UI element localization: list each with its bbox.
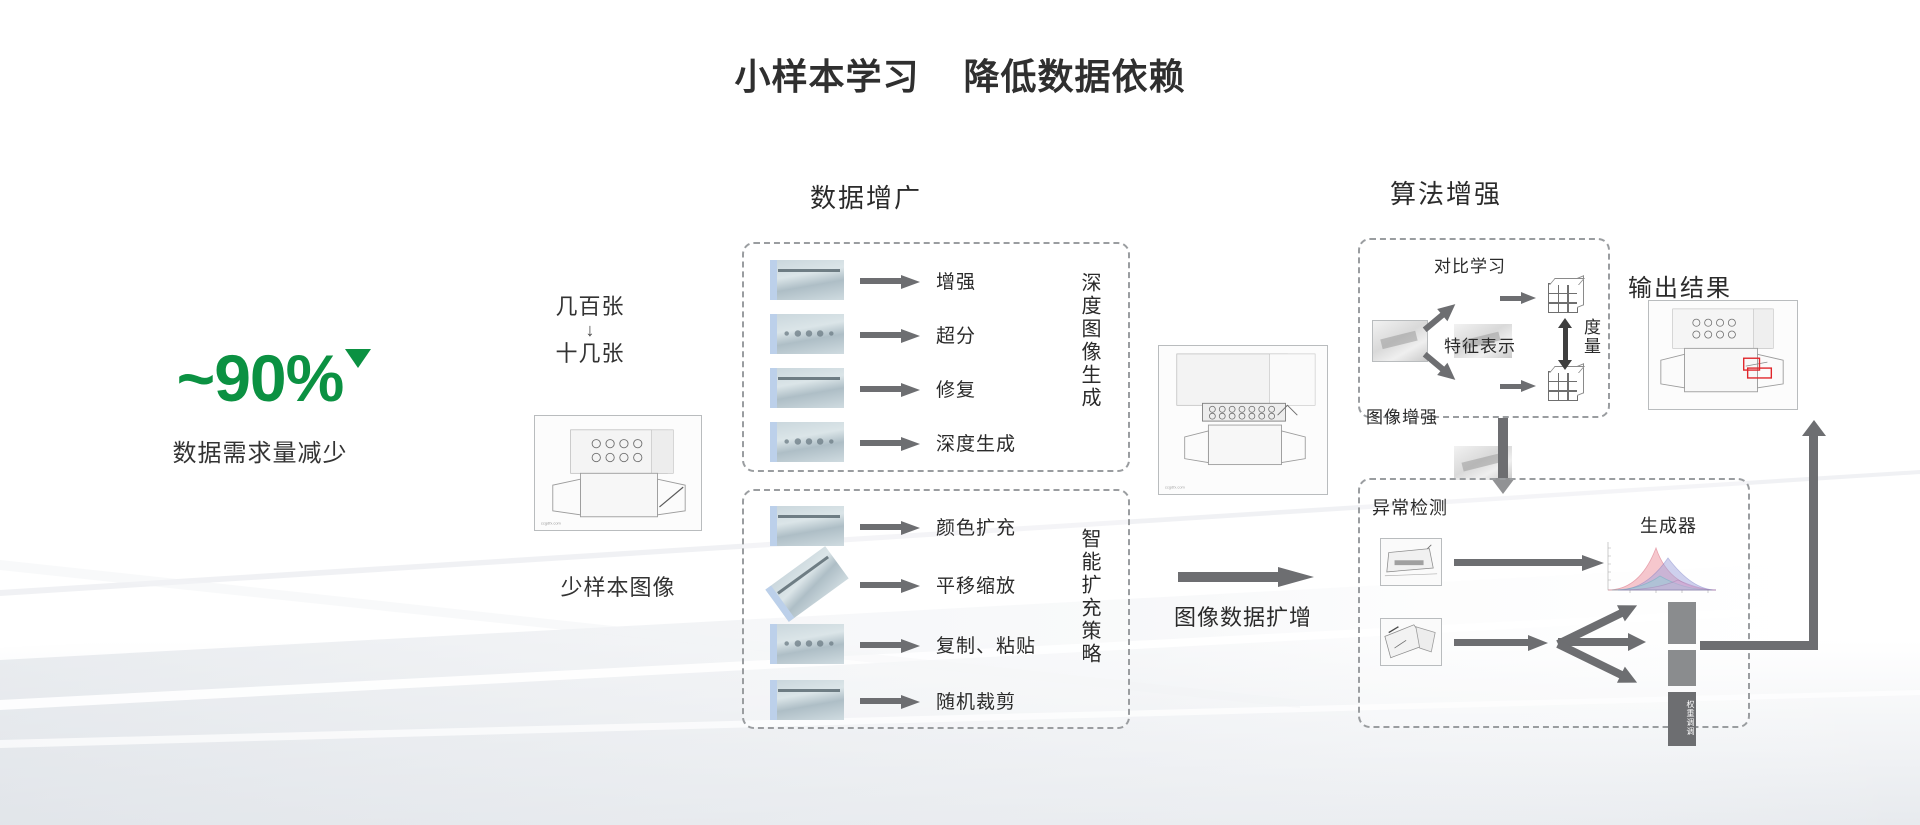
arrow-right-icon — [860, 639, 920, 650]
aug-label: 超分 — [936, 321, 976, 348]
smart-box-vertical-label: 智能扩充策略 — [1078, 528, 1099, 666]
arrow-down-connector-icon — [1498, 418, 1508, 480]
arrow-right-icon — [860, 579, 920, 590]
sample-thumbnail — [770, 680, 844, 720]
aug-label: 修复 — [936, 375, 976, 402]
aug-label: 深度生成 — [936, 429, 1016, 456]
distribution-plot — [1600, 540, 1720, 598]
arrow-right-icon — [860, 437, 920, 448]
anomaly-defect-image — [1380, 618, 1442, 666]
section-heading-algorithm: 算法增强 — [1390, 174, 1502, 211]
sample-thumbnail — [770, 422, 844, 462]
arrow-right-icon — [860, 521, 920, 532]
section-heading-augmentation: 数据增广 — [810, 178, 922, 215]
generator-block-2 — [1668, 650, 1696, 686]
aug-row-smart-2: 复制、粘贴 — [770, 622, 1036, 666]
arrow-right-icon — [860, 695, 920, 706]
sample-thumbnail — [770, 260, 844, 300]
aug-label: 颜色扩充 — [936, 513, 1016, 540]
arrow-right-icon — [1454, 556, 1604, 568]
aug-label: 随机裁剪 — [936, 687, 1016, 714]
slide-canvas: 小样本学习 降低数据依赖 ~90% 数据需求量减少 几百张 ↓ 十几张 ccg — [0, 0, 1920, 825]
arrow-down-icon: ↓ — [520, 321, 660, 341]
few-shot-sample-image: ccgdfx.com — [534, 415, 702, 531]
anomaly-normal-image — [1380, 538, 1442, 586]
contrastive-source-image — [1372, 320, 1428, 362]
aug-label: 平移缩放 — [936, 571, 1016, 598]
contrastive-title: 对比学习 — [1434, 252, 1506, 277]
stat-label: 数据需求量减少 — [100, 433, 420, 468]
arrow-right-icon — [860, 275, 920, 286]
aug-label: 增强 — [936, 267, 976, 294]
cube-grid-icon — [1548, 283, 1578, 313]
double-arrow-vertical-icon — [1561, 318, 1570, 370]
sample-count-to: 十几张 — [520, 340, 660, 368]
image-enhancement-label: 图像增强 — [1366, 403, 1438, 428]
triangle-down-icon — [345, 349, 371, 368]
aug-row-deep-0: 增强 — [770, 258, 976, 302]
generator-title: 生成器 — [1640, 512, 1697, 538]
sample-thumbnail — [770, 368, 844, 408]
arrow-right-icon — [1500, 382, 1536, 391]
arrow-right-icon — [860, 329, 920, 340]
aug-row-smart-1: 平移缩放 — [770, 562, 1016, 606]
deep-box-vertical-label: 深度图像生成 — [1078, 272, 1099, 410]
aug-row-deep-1: 超分 — [770, 312, 976, 356]
sample-thumbnail — [770, 314, 844, 354]
page-title: 小样本学习 降低数据依赖 — [0, 48, 1920, 100]
aug-label: 复制、粘贴 — [936, 631, 1036, 658]
section-heading-output: 输出结果 — [1628, 268, 1732, 303]
svg-text:ccgdfx.com: ccgdfx.com — [541, 521, 562, 526]
sample-thumbnail — [770, 506, 844, 546]
cube-grid-icon — [1548, 371, 1578, 401]
feedback-path-vertical — [1809, 434, 1818, 648]
metric-label: 度量 — [1578, 318, 1603, 356]
sample-count-from: 几百张 — [520, 293, 660, 321]
transfer-arrow-right-icon — [1178, 567, 1314, 587]
svg-text:ccgdfx.com: ccgdfx.com — [1165, 484, 1186, 489]
aug-row-deep-3: 深度生成 — [770, 420, 1016, 464]
augmented-dataset-image: ccgdfx.com — [1158, 345, 1328, 495]
aug-row-smart-0: 颜色扩充 — [770, 504, 1016, 548]
arrow-right-icon — [860, 383, 920, 394]
stat-value: ~90% — [177, 341, 344, 415]
stat-block: ~90% 数据需求量减少 — [100, 345, 420, 468]
output-result-image — [1648, 300, 1798, 410]
sample-caption: 少样本图像 — [520, 570, 716, 602]
sample-thumbnail — [770, 624, 844, 664]
transfer-caption: 图像数据扩增 — [1148, 600, 1338, 632]
sample-count-block: 几百张 ↓ 十几张 — [520, 293, 660, 368]
anomaly-title: 异常检测 — [1372, 494, 1448, 520]
arrow-right-icon — [1500, 294, 1536, 303]
aug-row-deep-2: 修复 — [770, 366, 976, 410]
feature-representation-label: 特征表示 — [1444, 332, 1516, 357]
generator-block-1 — [1668, 602, 1696, 644]
arrow-up-icon — [1802, 420, 1826, 436]
generator-block-label: 权重调调 — [1670, 700, 1694, 736]
stat-value-wrapper: ~90% — [177, 345, 344, 411]
feedback-path-horizontal — [1700, 641, 1818, 650]
arrow-right-icon — [1454, 636, 1548, 648]
aug-row-smart-3: 随机裁剪 — [770, 678, 1016, 722]
